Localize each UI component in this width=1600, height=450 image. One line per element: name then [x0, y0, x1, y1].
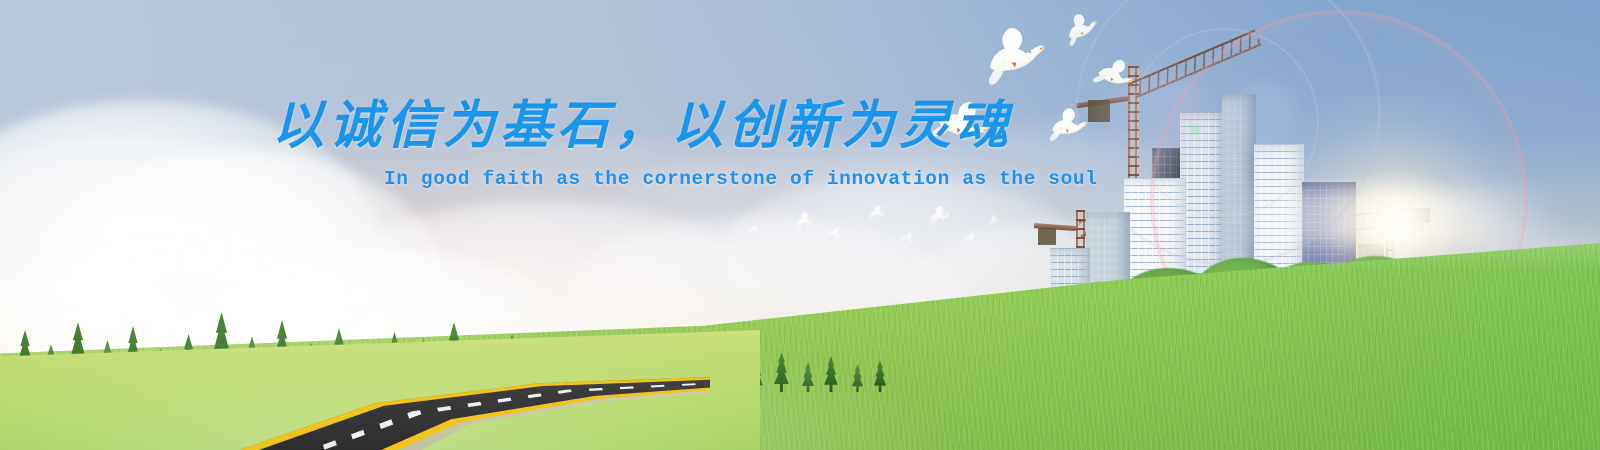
dove-large-3: [1042, 105, 1092, 143]
dove-small-6: [961, 231, 979, 245]
conifer-31: [850, 364, 865, 392]
conifer-29: [800, 362, 816, 392]
sun-streak: [1230, 190, 1560, 244]
dove-small-3: [865, 204, 888, 222]
country-road: [230, 360, 710, 450]
conifer-32: [872, 360, 888, 392]
conifer-30: [822, 356, 840, 392]
conifer-28: [772, 352, 791, 392]
hero-banner: 以诚信为基石，以创新为灵魂 In good faith as the corne…: [0, 0, 1600, 450]
